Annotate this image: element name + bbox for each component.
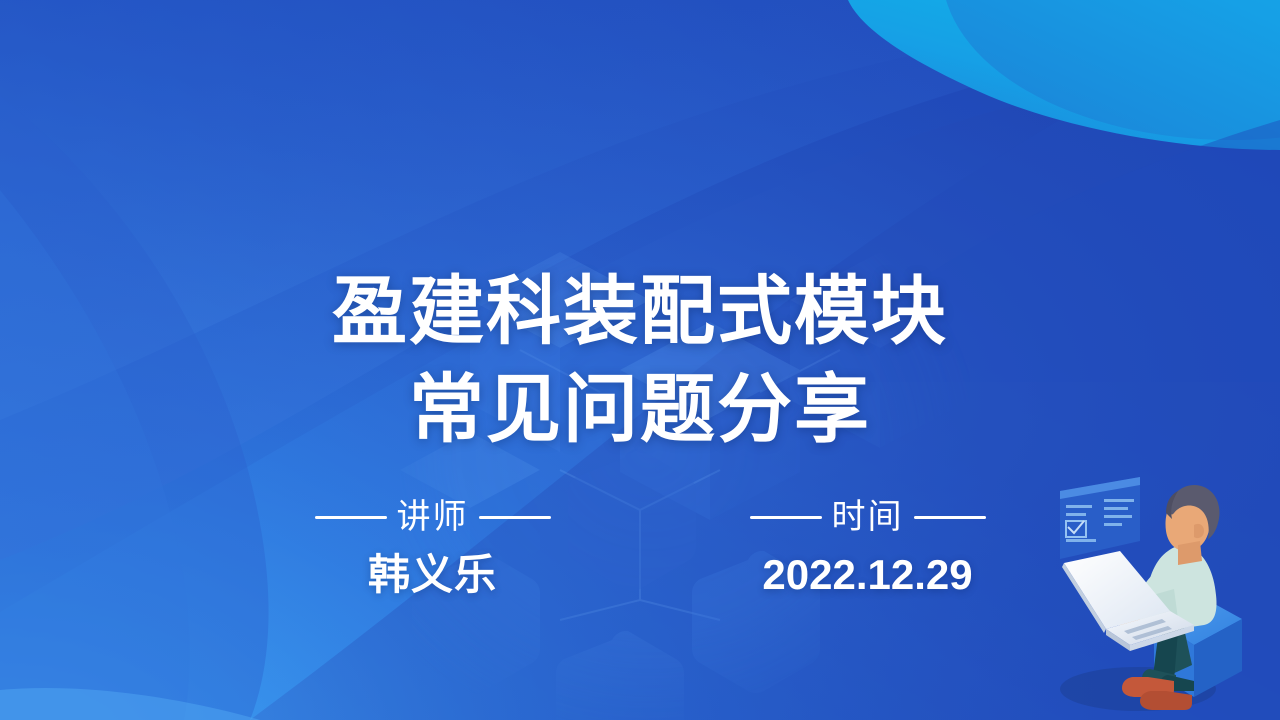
illustration-graphic bbox=[1042, 469, 1242, 714]
title-line-1: 盈建科装配式模块 bbox=[0, 262, 1280, 360]
title-line-2: 常见问题分享 bbox=[0, 360, 1280, 458]
rule-left-icon bbox=[750, 516, 822, 519]
floating-ui-panel bbox=[1060, 477, 1140, 559]
meta-speaker: 讲师 韩义乐 bbox=[255, 495, 610, 599]
meta-time-heading: 时间 bbox=[690, 495, 1045, 539]
meta-time-label: 时间 bbox=[832, 497, 904, 537]
person-working-on-laptop-illustration bbox=[1042, 469, 1242, 714]
presentation-title-slide: 盈建科装配式模块 常见问题分享 讲师 韩义乐 时间 2022.12.29 bbox=[0, 0, 1280, 720]
rule-right-icon bbox=[479, 516, 551, 519]
slide-content: 盈建科装配式模块 常见问题分享 讲师 韩义乐 时间 2022.12.29 bbox=[0, 0, 1280, 720]
meta-time-value: 2022.12.29 bbox=[690, 551, 1045, 599]
rule-left-icon bbox=[315, 516, 387, 519]
slide-meta-row: 讲师 韩义乐 时间 2022.12.29 bbox=[255, 495, 1045, 599]
slide-title: 盈建科装配式模块 常见问题分享 bbox=[0, 262, 1280, 458]
meta-speaker-label: 讲师 bbox=[397, 497, 469, 537]
rule-right-icon bbox=[914, 516, 986, 519]
meta-speaker-value: 韩义乐 bbox=[255, 551, 610, 599]
meta-speaker-heading: 讲师 bbox=[255, 495, 610, 539]
meta-time: 时间 2022.12.29 bbox=[690, 495, 1045, 599]
